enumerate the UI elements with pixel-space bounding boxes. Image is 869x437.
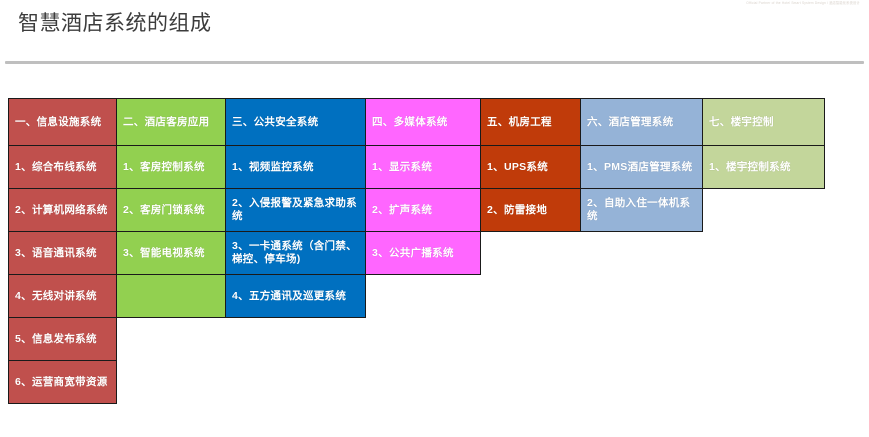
table-cell[interactable]: 1、综合布线系统 [8,145,117,189]
table-column: 二、酒店客房应用1、客房控制系统2、客房门锁系统3、智能电视系统 [117,99,226,318]
table-cell[interactable]: 1、显示系统 [365,145,481,189]
table-column: 三、公共安全系统1、视频监控系统2、入侵报警及紧急求助系统3、一卡通系统（含门禁… [226,99,366,318]
table-cell[interactable]: 3、语音通讯系统 [8,231,117,275]
table-cell[interactable]: 3、公共广播系统 [365,231,481,275]
watermark-text: Official Partner of the Hotel Smart Syst… [743,1,863,5]
column-header[interactable]: 一、信息设施系统 [8,98,117,146]
table-cell[interactable]: 1、楼宇控制系统 [702,145,825,189]
column-header[interactable]: 二、酒店客房应用 [116,98,226,146]
table-column: 四、多媒体系统1、显示系统2、扩声系统3、公共广播系统 [366,99,481,275]
column-header[interactable]: 四、多媒体系统 [365,98,481,146]
column-header[interactable]: 七、楼宇控制 [702,98,825,146]
page-title: 智慧酒店系统的组成 [18,9,212,37]
table-cell[interactable]: 6、运营商宽带资源 [8,360,117,404]
system-composition-table: 一、信息设施系统1、综合布线系统2、计算机网络系统3、语音通讯系统4、无线对讲系… [9,99,825,404]
table-cell[interactable]: 1、视频监控系统 [225,145,366,189]
table-cell[interactable]: 2、客房门锁系统 [116,188,226,232]
column-header[interactable]: 三、公共安全系统 [225,98,366,146]
table-cell[interactable]: 2、防雷接地 [480,188,581,232]
table-column: 七、楼宇控制1、楼宇控制系统 [703,99,825,189]
title-bar: 智慧酒店系统的组成 [0,0,869,64]
column-header[interactable]: 六、酒店管理系统 [580,98,703,146]
table-cell-empty[interactable] [116,274,226,318]
table-column: 六、酒店管理系统1、PMS酒店管理系统2、自助入住一体机系统 [581,99,703,232]
table-cell[interactable]: 2、计算机网络系统 [8,188,117,232]
column-header[interactable]: 五、机房工程 [480,98,581,146]
table-cell[interactable]: 2、扩声系统 [365,188,481,232]
table-cell[interactable]: 2、自助入住一体机系统 [580,188,703,232]
table-column: 一、信息设施系统1、综合布线系统2、计算机网络系统3、语音通讯系统4、无线对讲系… [9,99,117,404]
table-cell[interactable]: 4、无线对讲系统 [8,274,117,318]
table-cell[interactable]: 4、五方通讯及巡更系统 [225,274,366,318]
table-cell[interactable]: 1、PMS酒店管理系统 [580,145,703,189]
table-cell[interactable]: 3、一卡通系统（含门禁、梯控、停车场) [225,231,366,275]
slide-canvas: 智慧酒店系统的组成 Official Partner of the Hotel … [0,0,869,437]
table-cell[interactable]: 1、客房控制系统 [116,145,226,189]
table-cell[interactable]: 3、智能电视系统 [116,231,226,275]
title-divider [5,61,864,64]
table-cell[interactable]: 2、入侵报警及紧急求助系统 [225,188,366,232]
table-cell[interactable]: 1、UPS系统 [480,145,581,189]
table-column: 五、机房工程1、UPS系统2、防雷接地 [481,99,581,232]
table-cell[interactable]: 5、信息发布系统 [8,317,117,361]
